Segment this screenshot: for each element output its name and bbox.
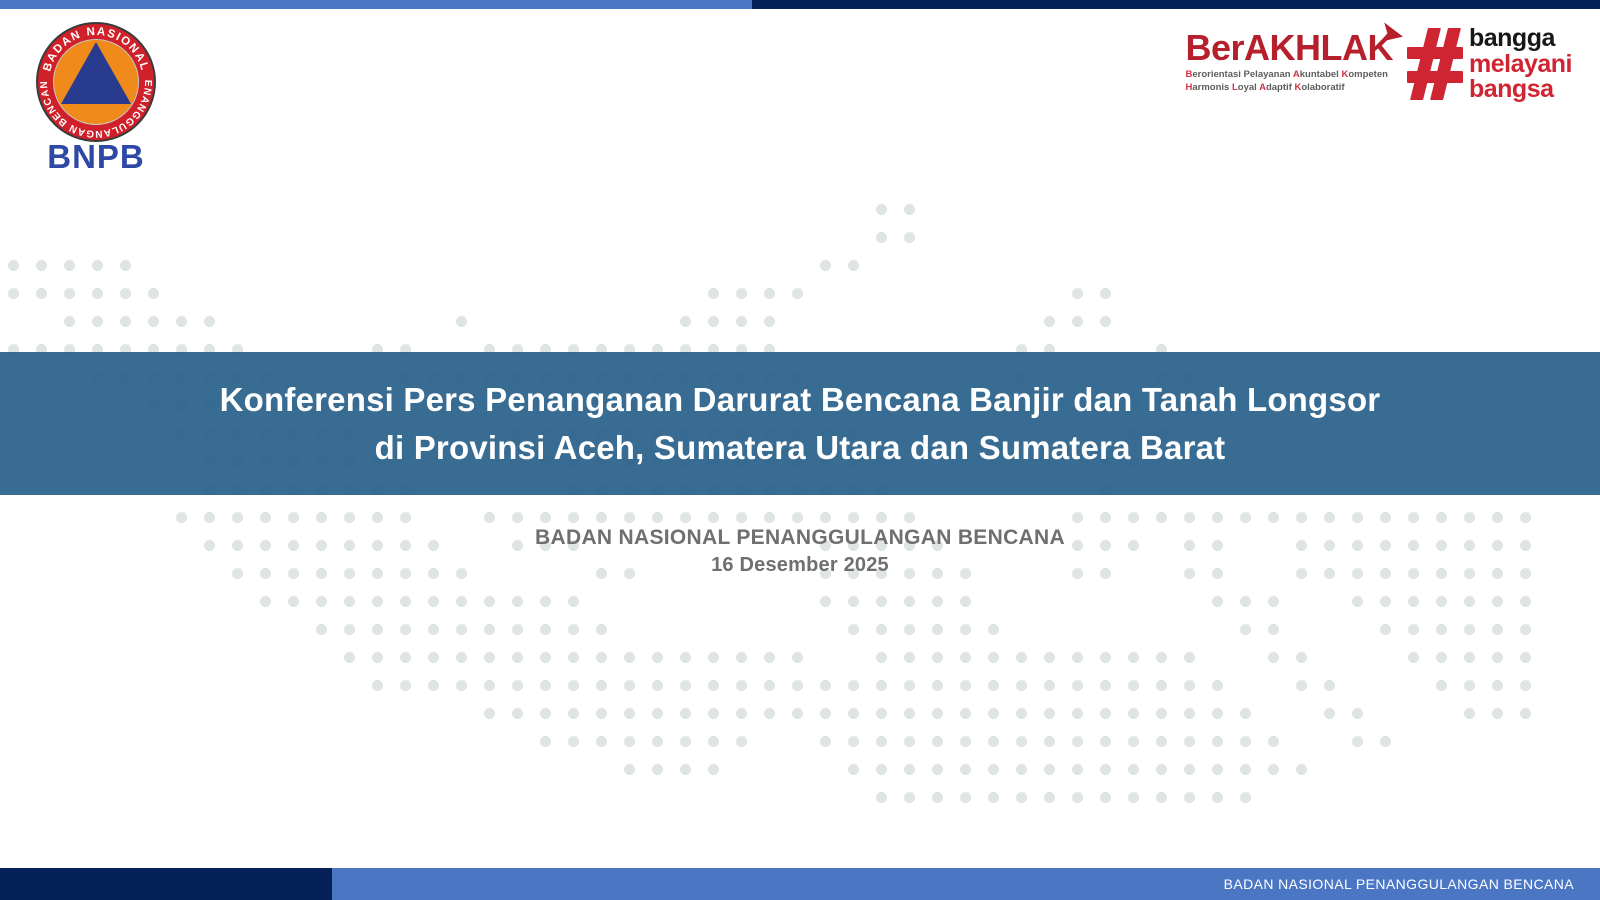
map-dot [540, 624, 551, 635]
map-dot [848, 512, 859, 523]
map-dot [848, 680, 859, 691]
map-dot [904, 680, 915, 691]
map-dot [428, 680, 439, 691]
map-dot [1044, 652, 1055, 663]
bangga-line2: melayani [1469, 52, 1572, 78]
map-dot [1016, 736, 1027, 747]
map-dot [372, 680, 383, 691]
map-dot [1100, 316, 1111, 327]
map-dot [624, 680, 635, 691]
map-dot [512, 624, 523, 635]
map-dot [960, 624, 971, 635]
map-dot [1184, 736, 1195, 747]
map-dot [848, 260, 859, 271]
map-dot [512, 596, 523, 607]
map-dot [596, 708, 607, 719]
map-dot [652, 736, 663, 747]
map-dot [568, 596, 579, 607]
map-dot [1268, 596, 1279, 607]
map-dot [8, 288, 19, 299]
map-dot [1184, 708, 1195, 719]
map-dot [1436, 680, 1447, 691]
map-dot [148, 316, 159, 327]
map-dot [1100, 792, 1111, 803]
map-dot [568, 652, 579, 663]
map-dot [1520, 708, 1531, 719]
map-dot [372, 624, 383, 635]
map-dot [876, 708, 887, 719]
map-dot [736, 680, 747, 691]
map-dot [1072, 708, 1083, 719]
footer-bar: BADAN NASIONAL PENANGGULANGAN BENCANA [0, 868, 1600, 900]
map-dot [344, 596, 355, 607]
map-dot [652, 512, 663, 523]
map-dot [792, 680, 803, 691]
map-dot [1072, 652, 1083, 663]
map-dot [1100, 764, 1111, 775]
map-dot [1156, 652, 1167, 663]
map-dot [64, 260, 75, 271]
map-dot [1464, 624, 1475, 635]
map-dot [484, 652, 495, 663]
map-dot [372, 596, 383, 607]
title-banner: Konferensi Pers Penanganan Darurat Benca… [0, 352, 1600, 495]
map-dot [1268, 512, 1279, 523]
map-dot [1464, 708, 1475, 719]
map-dot [540, 736, 551, 747]
map-dot [316, 624, 327, 635]
map-dot [1016, 764, 1027, 775]
map-dot [764, 512, 775, 523]
map-dot [960, 708, 971, 719]
map-dot [988, 652, 999, 663]
map-dot [1268, 624, 1279, 635]
berakhlak-wordmark: BerAKHLAK ➤ [1185, 30, 1393, 66]
map-dot [540, 708, 551, 719]
map-dot [1156, 512, 1167, 523]
map-dot [400, 652, 411, 663]
map-dot [904, 624, 915, 635]
presentation-slide: BADAN NASIONAL PENANGGULANGAN BENCANA BN… [0, 0, 1600, 900]
footer-bar-left [0, 868, 332, 900]
map-dot [1464, 680, 1475, 691]
map-dot [1044, 680, 1055, 691]
map-dot [960, 652, 971, 663]
map-dot [792, 288, 803, 299]
map-dot [680, 652, 691, 663]
map-dot [652, 764, 663, 775]
map-dot [708, 764, 719, 775]
map-dot [568, 624, 579, 635]
map-dot [1128, 652, 1139, 663]
map-dot [624, 764, 635, 775]
map-dot [764, 652, 775, 663]
map-dot [1240, 736, 1251, 747]
map-dot [1296, 680, 1307, 691]
map-dot [1100, 680, 1111, 691]
map-dot [1072, 316, 1083, 327]
map-dot [1296, 764, 1307, 775]
map-dot [148, 288, 159, 299]
map-dot [512, 708, 523, 719]
map-dot [736, 316, 747, 327]
map-dot [1240, 792, 1251, 803]
map-dot [1408, 652, 1419, 663]
map-dot [1492, 680, 1503, 691]
map-dot [932, 680, 943, 691]
bnpb-acronym: BNPB [28, 138, 164, 176]
map-dot [988, 764, 999, 775]
map-dot [932, 792, 943, 803]
berakhlak-tagline: Berorientasi Pelayanan Akuntabel Kompete… [1185, 69, 1393, 95]
partner-logo-lockup: BerAKHLAK ➤ Berorientasi Pelayanan Akunt… [1185, 26, 1572, 103]
map-dot [708, 680, 719, 691]
map-dot [1212, 512, 1223, 523]
map-dot [1100, 652, 1111, 663]
map-dot [596, 736, 607, 747]
map-dot [988, 680, 999, 691]
map-dot [1520, 596, 1531, 607]
map-dot [960, 596, 971, 607]
map-dot [1044, 764, 1055, 775]
map-dot [1128, 680, 1139, 691]
map-dot [876, 512, 887, 523]
map-dot [1212, 792, 1223, 803]
map-dot [624, 708, 635, 719]
map-dot [904, 736, 915, 747]
map-dot [1296, 512, 1307, 523]
map-dot [540, 512, 551, 523]
map-dot [260, 596, 271, 607]
map-dot [736, 736, 747, 747]
map-dot [764, 288, 775, 299]
map-dot [1380, 736, 1391, 747]
map-dot [876, 624, 887, 635]
map-dot [1100, 512, 1111, 523]
map-dot [400, 624, 411, 635]
top-accent-bar [0, 0, 1600, 9]
map-dot [904, 232, 915, 243]
map-dot [1352, 512, 1363, 523]
top-accent-bar-left [0, 0, 752, 9]
map-dot [988, 708, 999, 719]
map-dot [456, 680, 467, 691]
map-dot [792, 512, 803, 523]
map-dot [1240, 708, 1251, 719]
map-dot [1128, 792, 1139, 803]
map-dot [64, 288, 75, 299]
map-dot [64, 316, 75, 327]
map-dot [1016, 652, 1027, 663]
berakhlak-tagline-line2: Harmonis Loyal Adaptif Kolaboratif [1185, 82, 1393, 95]
map-dot [876, 680, 887, 691]
map-dot [1520, 680, 1531, 691]
map-dot [1492, 596, 1503, 607]
map-dot [1072, 288, 1083, 299]
map-dot [1016, 708, 1027, 719]
map-dot [176, 316, 187, 327]
map-dot [708, 736, 719, 747]
map-dot [316, 512, 327, 523]
map-dot [848, 764, 859, 775]
map-dot [596, 680, 607, 691]
map-dot [1044, 708, 1055, 719]
map-dot [1156, 680, 1167, 691]
map-dot [1128, 736, 1139, 747]
map-dot [848, 624, 859, 635]
map-dot [1492, 652, 1503, 663]
map-dot [1492, 624, 1503, 635]
map-dot [176, 512, 187, 523]
bnpb-logo: BADAN NASIONAL PENANGGULANGAN BENCANA BN… [28, 22, 164, 167]
map-dot [876, 232, 887, 243]
bnpb-seal-icon: BADAN NASIONAL PENANGGULANGAN BENCANA [36, 22, 156, 142]
berakhlak-swoosh-icon: ➤ [1377, 18, 1405, 50]
map-dot [484, 624, 495, 635]
map-dot [1016, 792, 1027, 803]
map-dot [680, 736, 691, 747]
map-dot [736, 288, 747, 299]
map-dot [904, 792, 915, 803]
map-dot [1408, 512, 1419, 523]
footer-text: BADAN NASIONAL PENANGGULANGAN BENCANA [1224, 876, 1574, 892]
map-dot [1324, 512, 1335, 523]
map-dot [1156, 708, 1167, 719]
svg-text:BADAN NASIONAL: BADAN NASIONAL [41, 26, 150, 73]
map-dot [8, 260, 19, 271]
map-dot [988, 736, 999, 747]
map-dot [932, 764, 943, 775]
map-dot [1436, 624, 1447, 635]
map-dot [708, 708, 719, 719]
map-dot [1044, 316, 1055, 327]
map-dot [1268, 764, 1279, 775]
map-dot [1128, 708, 1139, 719]
footer-bar-right: BADAN NASIONAL PENANGGULANGAN BENCANA [332, 868, 1600, 900]
map-dot [92, 260, 103, 271]
map-dot [876, 204, 887, 215]
map-dot [1044, 792, 1055, 803]
map-dot [428, 596, 439, 607]
map-dot [1436, 596, 1447, 607]
map-dot [36, 260, 47, 271]
map-dot [568, 512, 579, 523]
map-dot [1240, 624, 1251, 635]
map-dot [456, 652, 467, 663]
map-dot [1464, 596, 1475, 607]
map-dot [904, 204, 915, 215]
map-dot [1100, 708, 1111, 719]
map-dot [1520, 624, 1531, 635]
map-dot [456, 596, 467, 607]
map-dot [1520, 652, 1531, 663]
map-dot [1044, 736, 1055, 747]
map-dot [344, 624, 355, 635]
map-dot [1072, 764, 1083, 775]
map-dot [1268, 736, 1279, 747]
berakhlak-logo: BerAKHLAK ➤ Berorientasi Pelayanan Akunt… [1185, 26, 1393, 95]
map-dot [680, 764, 691, 775]
map-dot [428, 652, 439, 663]
map-dot [1128, 764, 1139, 775]
map-dot [92, 288, 103, 299]
map-dot [120, 288, 131, 299]
map-dot [344, 512, 355, 523]
map-dot [456, 624, 467, 635]
map-dot [1212, 736, 1223, 747]
map-dot [1184, 764, 1195, 775]
map-dot [820, 512, 831, 523]
map-dot [1072, 680, 1083, 691]
organization-name: BADAN NASIONAL PENANGGULANGAN BENCANA [0, 524, 1600, 552]
map-dot [372, 512, 383, 523]
map-dot [820, 708, 831, 719]
map-dot [1100, 736, 1111, 747]
map-dot [1352, 736, 1363, 747]
map-dot [1156, 792, 1167, 803]
map-dot [568, 708, 579, 719]
bangga-melayani-bangsa-logo: bangga melayani bangsa [1407, 26, 1572, 103]
map-dot [1072, 792, 1083, 803]
map-dot [1240, 512, 1251, 523]
map-dot [736, 512, 747, 523]
map-dot [1184, 512, 1195, 523]
map-dot [1072, 736, 1083, 747]
map-dot [1212, 680, 1223, 691]
map-dot [764, 680, 775, 691]
map-dot [932, 736, 943, 747]
map-dot [792, 708, 803, 719]
map-dot [204, 316, 215, 327]
map-dot [1436, 652, 1447, 663]
map-dot [932, 596, 943, 607]
map-dot [904, 708, 915, 719]
map-dot [820, 680, 831, 691]
map-dot [1408, 596, 1419, 607]
map-dot [204, 512, 215, 523]
map-dot [988, 624, 999, 635]
map-dot [1324, 708, 1335, 719]
seal-curved-text: BADAN NASIONAL PENANGGULANGAN BENCANA [36, 22, 156, 142]
map-dot [876, 792, 887, 803]
map-dot [652, 680, 663, 691]
map-dot [1240, 764, 1251, 775]
map-dot [960, 736, 971, 747]
slide-title-line2: di Provinsi Aceh, Sumatera Utara dan Sum… [375, 424, 1226, 472]
map-dot [764, 316, 775, 327]
presentation-date: 16 Desember 2025 [0, 552, 1600, 579]
map-dot [848, 736, 859, 747]
map-dot [1184, 680, 1195, 691]
map-dot [1352, 596, 1363, 607]
map-dot [904, 764, 915, 775]
map-dot [960, 680, 971, 691]
map-dot [596, 512, 607, 523]
map-dot [512, 652, 523, 663]
map-dot [512, 680, 523, 691]
map-dot [1492, 512, 1503, 523]
map-dot [932, 624, 943, 635]
map-dot [1464, 652, 1475, 663]
map-dot [960, 792, 971, 803]
map-dot [596, 624, 607, 635]
map-dot [764, 708, 775, 719]
map-dot [876, 596, 887, 607]
bangga-line1: bangga [1469, 26, 1572, 52]
map-dot [1100, 288, 1111, 299]
map-dot [1240, 596, 1251, 607]
map-dot [484, 680, 495, 691]
map-dot [820, 736, 831, 747]
map-dot [848, 596, 859, 607]
hashtag-icon [1407, 28, 1463, 100]
map-dot [932, 652, 943, 663]
map-dot [820, 260, 831, 271]
map-dot [1128, 512, 1139, 523]
map-dot [1492, 708, 1503, 719]
map-dot [708, 288, 719, 299]
map-dot [904, 652, 915, 663]
map-dot [1436, 512, 1447, 523]
map-dot [1156, 736, 1167, 747]
map-dot [1212, 764, 1223, 775]
map-dot [1380, 512, 1391, 523]
map-dot [484, 512, 495, 523]
map-dot [680, 512, 691, 523]
map-dot [624, 736, 635, 747]
map-dot [1016, 680, 1027, 691]
map-dot [652, 708, 663, 719]
map-dot [120, 260, 131, 271]
map-dot [568, 680, 579, 691]
map-dot [36, 288, 47, 299]
map-dot [960, 764, 971, 775]
top-accent-bar-right [752, 0, 1600, 9]
map-dot [316, 596, 327, 607]
map-dot [540, 596, 551, 607]
map-dot [400, 512, 411, 523]
map-dot [400, 680, 411, 691]
map-dot [1408, 624, 1419, 635]
map-dot [120, 316, 131, 327]
map-dot [484, 596, 495, 607]
berakhlak-tagline-line1: Berorientasi Pelayanan Akuntabel Kompete… [1185, 69, 1393, 82]
map-dot [680, 708, 691, 719]
map-dot [680, 316, 691, 327]
map-dot [876, 764, 887, 775]
map-dot [652, 652, 663, 663]
map-dot [932, 708, 943, 719]
map-dot [708, 512, 719, 523]
map-dot [904, 512, 915, 523]
map-dot [736, 652, 747, 663]
map-dot [288, 512, 299, 523]
map-dot [848, 708, 859, 719]
map-dot [232, 512, 243, 523]
map-dot [540, 680, 551, 691]
map-dot [568, 736, 579, 747]
map-dot [1156, 764, 1167, 775]
map-dot [1520, 512, 1531, 523]
bangga-wordmark: bangga melayani bangsa [1469, 26, 1572, 103]
map-dot [1184, 652, 1195, 663]
map-dot [512, 512, 523, 523]
map-dot [736, 708, 747, 719]
bangga-line3: bangsa [1469, 77, 1572, 103]
map-dot [1212, 596, 1223, 607]
map-dot [1464, 512, 1475, 523]
map-dot [904, 596, 915, 607]
